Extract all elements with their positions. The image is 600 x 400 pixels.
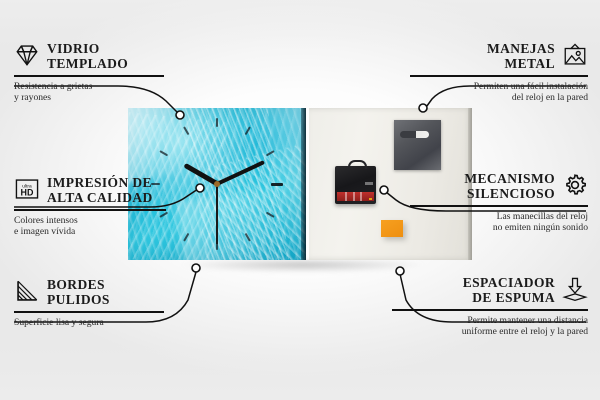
callout-rule [410, 205, 588, 207]
callout-rule [14, 311, 164, 313]
clock-tick [159, 183, 217, 218]
callout-desc: Permiten una fácil instalación del reloj… [410, 81, 588, 104]
callout-desc: Superficie lisa y segura [14, 317, 164, 329]
callout-desc: Permite mantener una distancia uniforme … [392, 315, 588, 338]
callout-rule [14, 75, 164, 77]
callout-desc: Las manecillas del reloj no emiten ningú… [410, 211, 588, 234]
picture-hanger-icon [562, 42, 588, 68]
mechanism-label [365, 182, 373, 185]
callout-rule [410, 75, 588, 77]
callout-title: MANEJAS METAL [487, 42, 555, 71]
callout-bordes-pulidos: BORDES PULIDOS Superficie lisa y segura [14, 278, 164, 328]
battery-terminal [369, 198, 372, 200]
metal-hanger-plate [394, 120, 441, 170]
callout-impresion-alta-calidad: ultra HD IMPRESIÓN DE ALTA CALIDAD Color… [14, 176, 166, 238]
hanger-slot [400, 131, 429, 138]
callout-desc: Resistencia a grietas y rayones [14, 81, 164, 104]
diamond-icon [14, 42, 40, 68]
svg-text:HD: HD [21, 188, 34, 198]
product-shadow [132, 260, 474, 276]
callout-title: BORDES PULIDOS [47, 278, 110, 307]
ultra-hd-icon: ultra HD [14, 176, 40, 202]
callout-rule [392, 309, 588, 311]
callout-title: MECANISMO SILENCIOSO [464, 172, 555, 201]
clock-face-edge [301, 108, 306, 260]
callout-manejas-metal: MANEJAS METAL Permiten una fácil instala… [410, 42, 588, 104]
infographic-canvas: VIDRIO TEMPLADO Resistencia a grietas y … [0, 0, 600, 400]
battery [337, 192, 375, 200]
mechanism-hook [348, 160, 367, 168]
clock-tick [216, 118, 218, 184]
callout-rule [14, 209, 166, 211]
callout-desc: Colores intensos e imagen vívida [14, 215, 166, 238]
callout-title: ESPACIADOR DE ESPUMA [463, 276, 555, 305]
callout-title: IMPRESIÓN DE ALTA CALIDAD [47, 176, 153, 205]
polished-edge-icon [14, 278, 40, 304]
foam-spacer-icon [562, 276, 588, 302]
clock-center-cap [214, 181, 220, 187]
clock-mechanism [335, 166, 376, 204]
clock-second-hand [216, 184, 218, 244]
gear-icon [562, 172, 588, 198]
callout-mecanismo-silencioso: MECANISMO SILENCIOSO Las manecillas del … [410, 172, 588, 234]
callout-vidrio-templado: VIDRIO TEMPLADO Resistencia a grietas y … [14, 42, 164, 104]
callout-title: VIDRIO TEMPLADO [47, 42, 128, 71]
foam-spacer-pad [381, 220, 403, 237]
clock-tick [217, 183, 283, 185]
callout-espaciador-espuma: ESPACIADOR DE ESPUMA Permite mantener un… [392, 276, 588, 338]
